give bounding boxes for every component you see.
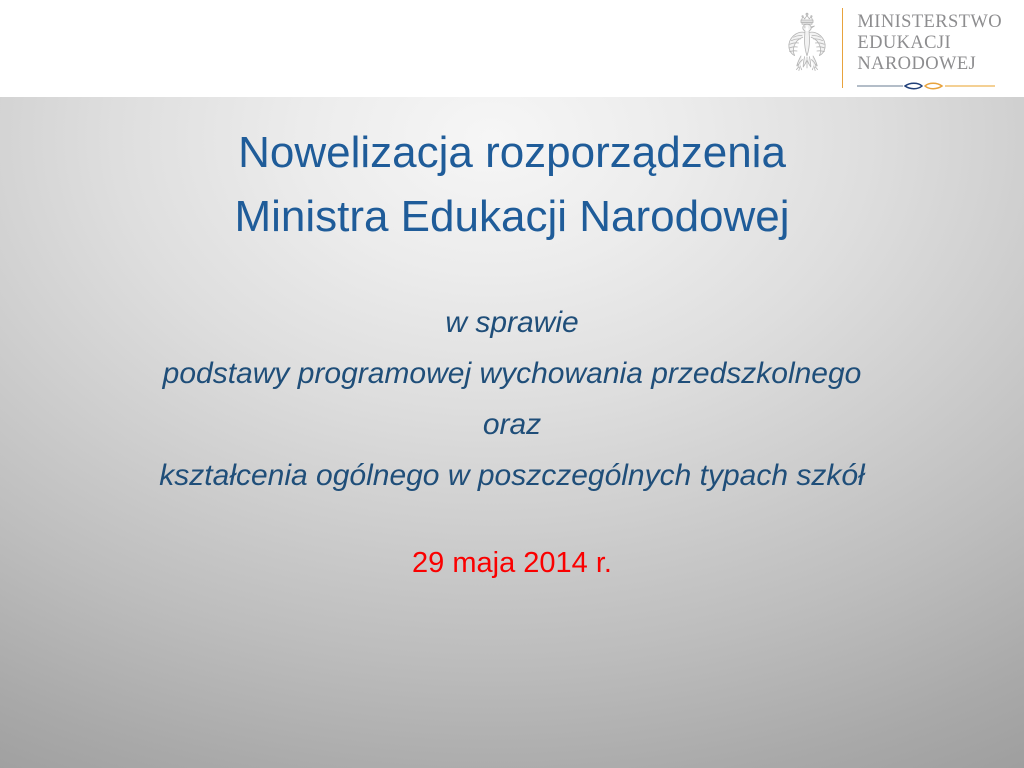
ministry-logo-line-2: EDUKACJI: [857, 33, 1002, 54]
slide-date-text: 29 maja 2014 r.: [0, 545, 1024, 581]
slide-subtitle-line-4: kształcenia ogólnego w poszczególnych ty…: [0, 450, 1024, 501]
ministry-logo-line-1: MINISTERSTWO: [857, 12, 1002, 33]
slide-subtitle-line-1: w sprawie: [0, 297, 1024, 348]
logo-divider: [842, 8, 843, 88]
slide-content: Nowelizacja rozporządzenia Ministra Eduk…: [0, 97, 1024, 768]
slide-title-line-1: Nowelizacja rozporządzenia: [0, 121, 1024, 185]
slide-date: 29 maja 2014 r.: [0, 545, 1024, 581]
decorative-rule-icon: [857, 80, 995, 92]
header-band: MINISTERSTWO EDUKACJI NARODOWEJ: [0, 0, 1024, 97]
ministry-logo: MINISTERSTWO EDUKACJI NARODOWEJ: [776, 8, 1002, 90]
slide-subtitle-line-3: oraz: [0, 399, 1024, 450]
presentation-slide: MINISTERSTWO EDUKACJI NARODOWEJ Noweliza…: [0, 0, 1024, 768]
slide-subtitle: w sprawie podstawy programowej wychowani…: [0, 297, 1024, 501]
ministry-logo-text: MINISTERSTWO EDUKACJI NARODOWEJ: [857, 8, 1002, 92]
slide-title-line-2: Ministra Edukacji Narodowej: [0, 185, 1024, 249]
slide-subtitle-line-2: podstawy programowej wychowania przedszk…: [0, 348, 1024, 399]
slide-title: Nowelizacja rozporządzenia Ministra Eduk…: [0, 97, 1024, 249]
ministry-logo-line-3: NARODOWEJ: [857, 54, 1002, 75]
polish-eagle-emblem-icon: [776, 8, 838, 86]
